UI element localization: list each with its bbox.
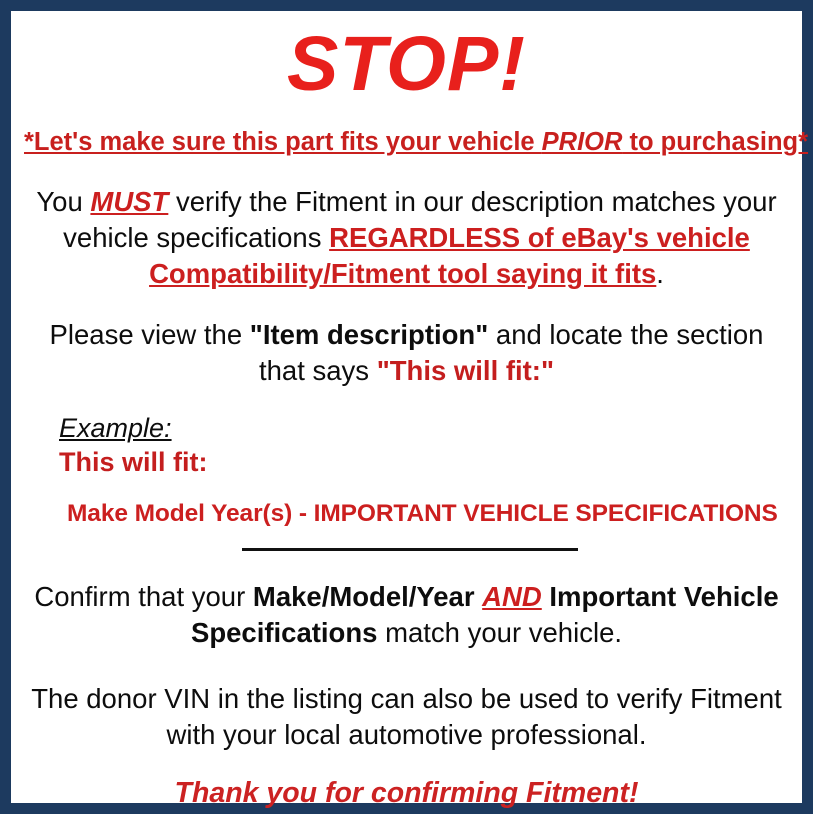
desc-part1: Please view the xyxy=(50,319,250,350)
subtitle-prefix: *Let's make sure this part fits your veh… xyxy=(24,128,542,156)
example-label-row: Example: xyxy=(59,412,789,445)
subtitle-banner: *Let's make sure this part fits your veh… xyxy=(24,106,789,157)
notice-card-inner: STOP! *Let's make sure this part fits yo… xyxy=(11,11,802,803)
must-part1: You xyxy=(36,186,90,217)
fitment-notice-card: STOP! *Let's make sure this part fits yo… xyxy=(0,0,813,814)
this-will-fit-emphasis: "This will fit:" xyxy=(377,355,554,386)
must-part3: . xyxy=(656,258,664,289)
subtitle-suffix: to purchasing* xyxy=(622,128,808,156)
example-spec-line: Make Model Year(s) - IMPORTANT VEHICLE S… xyxy=(59,479,789,530)
horizontal-divider xyxy=(242,548,578,551)
example-this-will-fit: This will fit: xyxy=(59,445,789,479)
example-label: Example: xyxy=(59,412,172,445)
thank-you-line: Thank you for confirming Fitment! xyxy=(24,753,789,811)
divider-wrap xyxy=(24,530,789,551)
confirm-part2: match your vehicle. xyxy=(377,617,622,648)
subtitle-emphasis-prior: PRIOR xyxy=(542,128,623,156)
paragraph-confirm: Confirm that your Make/Model/Year AND Im… xyxy=(24,551,789,651)
make-model-year-emphasis: Make/Model/Year xyxy=(253,581,475,612)
example-block: Example: This will fit: Make Model Year(… xyxy=(24,389,789,530)
and-emphasis: AND xyxy=(482,581,542,612)
paragraph-must-verify: You MUST verify the Fitment in our descr… xyxy=(24,157,789,292)
confirm-part1: Confirm that your xyxy=(34,581,253,612)
item-description-emphasis: "Item description" xyxy=(250,319,488,350)
must-emphasis: MUST xyxy=(90,186,168,217)
page-title: STOP! xyxy=(24,11,789,106)
paragraph-donor-vin: The donor VIN in the listing can also be… xyxy=(24,651,789,753)
paragraph-item-description: Please view the "Item description" and l… xyxy=(24,292,789,389)
